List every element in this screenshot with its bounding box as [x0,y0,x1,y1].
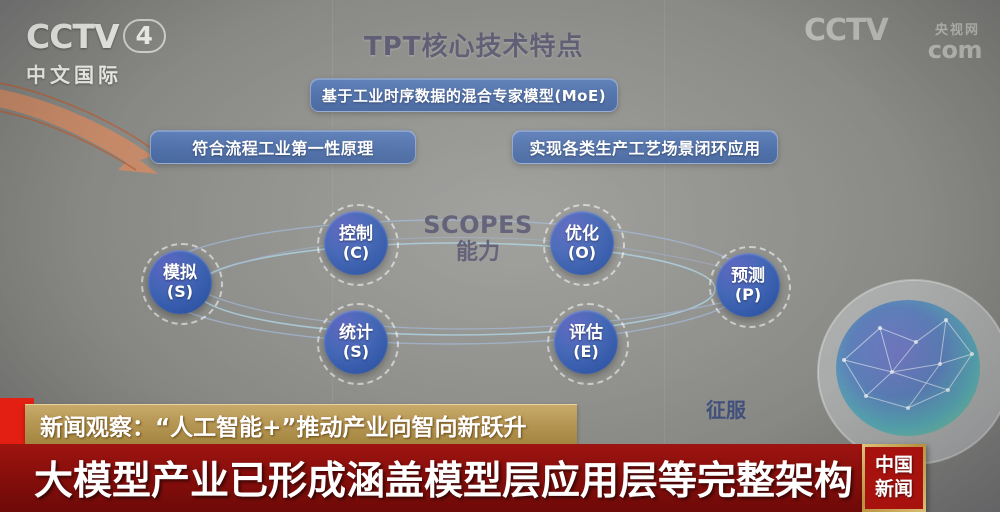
node-circle: 模拟 (S) [148,250,212,314]
topic-bar: 新闻观察：“人工智能+”推动产业向智向新跃升 [25,404,577,445]
headline-bar: 大模型产业已形成涵盖模型层应用层等完整架构 [0,444,862,512]
node-circle: 预测 (P) [716,253,780,317]
headline-text: 大模型产业已形成涵盖模型层应用层等完整架构 [34,450,853,506]
channel-logo-row: CCTV 4 [26,16,186,56]
swoosh-decoration [0,78,170,198]
cctv-wordmark: CCTV [26,20,119,53]
node-label-en: (E) [573,343,599,361]
program-logo-line2: 新闻 [875,478,913,502]
node-control: 控制 (C) [317,204,395,282]
node-label-en: (C) [343,244,369,262]
program-logo-inner: 中国 新闻 [865,447,923,509]
node-label-en: (P) [735,286,761,304]
node-statistic: 统计 (S) [317,303,395,381]
node-label-cn: 统计 [339,324,373,343]
diagram-center-label: SCOPES 能力 [418,211,538,266]
node-label-cn: 优化 [565,225,599,244]
node-predict: 预测 (P) [709,246,787,324]
node-label-en: (S) [167,283,193,301]
node-circle: 统计 (S) [324,310,388,374]
watermark-com: com [928,36,982,64]
center-title: SCOPES [418,211,538,240]
node-label-cn: 评估 [569,324,603,343]
pill-first-principles: 符合流程工业第一性原理 [150,130,416,164]
node-simulate: 模拟 (S) [141,243,219,321]
node-circle: 优化 (O) [550,211,614,275]
node-circle: 评估 (E) [554,310,618,374]
node-label-cn: 控制 [339,225,373,244]
node-label-cn: 模拟 [163,264,197,283]
pill-moe: 基于工业时序数据的混合专家模型(MoE) [310,78,618,112]
node-circle: 控制 (C) [324,211,388,275]
channel-subtitle: 中文国际 [26,59,186,88]
node-label-en: (S) [343,343,369,361]
network-watermark: CCTV 央视网 com [804,16,984,62]
tv-broadcast-frame: CCTV 4 中文国际 CCTV 央视网 com TPT核心技术特点 基于工业时… [0,0,1000,512]
channel-logo: CCTV 4 中文国际 [26,16,186,88]
brain-graphic [796,268,1000,468]
node-label-cn: 预测 [731,267,765,286]
program-logo: 中国 新闻 [862,444,926,512]
program-logo-line1: 中国 [875,454,913,478]
slide-title: TPT核心技术特点 [364,26,584,63]
node-evaluate: 评估 (E) [547,303,625,381]
center-subtitle: 能力 [418,240,538,266]
channel-number: 4 [123,19,166,53]
topic-bar-text: 新闻观察：“人工智能+”推动产业向智向新跃升 [40,408,527,442]
node-optimize: 优化 (O) [543,204,621,282]
node-label-en: (O) [568,244,596,262]
side-caption: 征服 [666,398,786,422]
pill-closed-loop: 实现各类生产工艺场景闭环应用 [512,130,778,164]
